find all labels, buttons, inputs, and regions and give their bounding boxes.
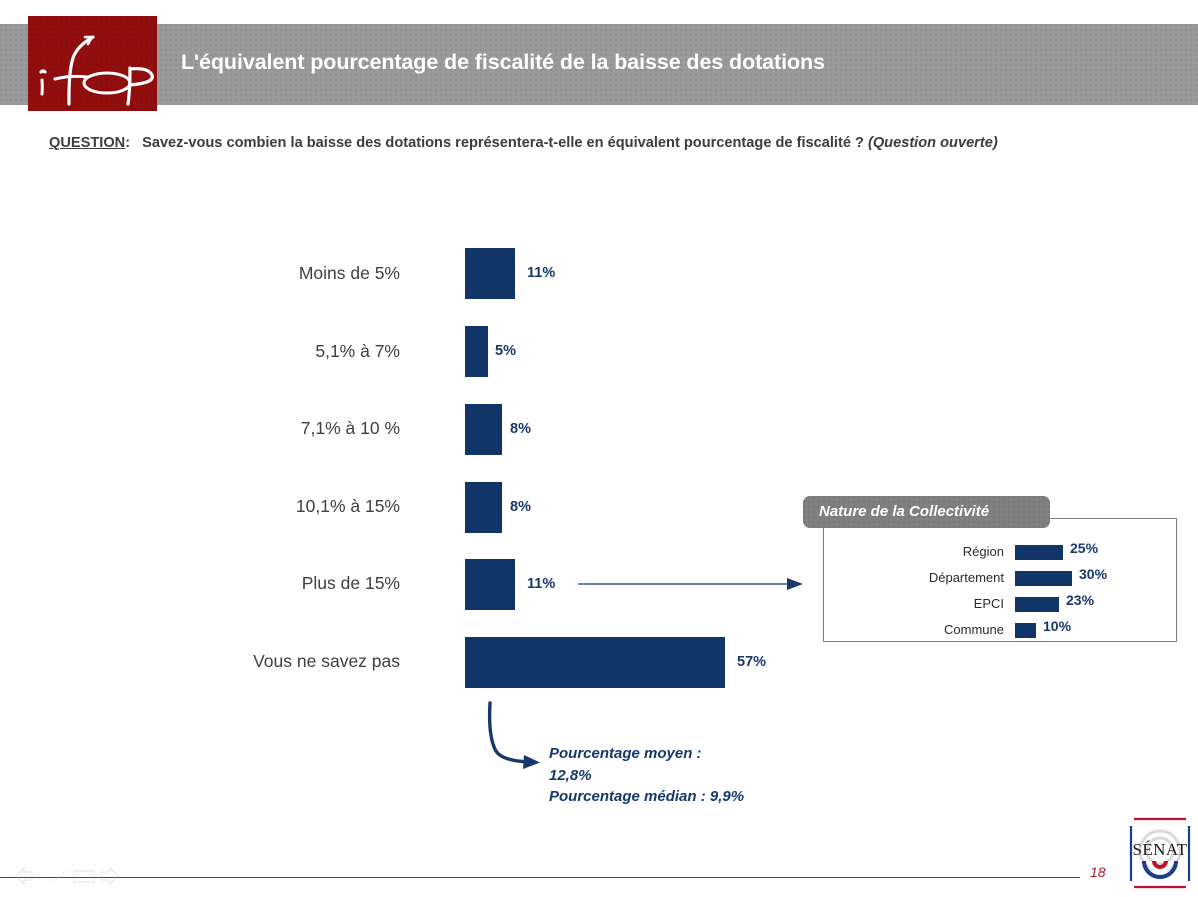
page-number: 18 [1090,864,1106,880]
bar-value-0: 11% [527,265,555,281]
bar-5 [465,637,725,688]
callout-category-label: Département [884,570,1004,585]
bar-value-3: 8% [510,499,531,515]
bar-2 [465,404,502,455]
svg-text:SÉNAT: SÉNAT [1133,840,1188,859]
nav-prev-icon [16,868,32,884]
callout-bar-1 [1015,571,1072,586]
bar-category-label: Plus de 15% [140,573,400,594]
footer-rule [0,877,1080,878]
nav-divider-icon [54,870,66,882]
callout-bar-2 [1015,597,1059,612]
bar-value-2: 8% [510,421,531,437]
bar-category-label: 5,1% à 7% [140,341,400,362]
bar-4 [465,559,515,610]
callout-bar-value-3: 10% [1043,618,1071,634]
callout-title: Nature de la Collectivité [819,503,989,520]
callout-bar-value-1: 30% [1079,566,1107,582]
annotation-text: Pourcentage moyen : 12,8% Pourcentage mé… [549,743,744,808]
callout-connector-arrow [575,570,810,600]
callout-category-label: Région [884,544,1004,559]
callout-box: Région 25% Département 30% EPCI 23% Comm… [823,518,1177,642]
bar-value-1: 5% [495,343,516,359]
callout-bar-0 [1015,545,1063,560]
nav-stop-icon [74,871,94,882]
nav-widget[interactable] [10,860,140,892]
slide-root: L'équivalent pourcentage de fiscalité de… [0,0,1198,897]
bar-category-label: Vous ne savez pas [140,651,400,672]
callout-bar-3 [1015,623,1036,638]
callout-bar-value-2: 23% [1066,592,1094,608]
annotation-line-3: Pourcentage médian : 9,9% [549,786,744,808]
bar-category-label: 7,1% à 10 % [140,418,400,439]
bar-value-4: 11% [527,576,555,592]
bar-category-label: Moins de 5% [140,263,400,284]
callout-bar-value-0: 25% [1070,540,1098,556]
bar-category-label: 10,1% à 15% [140,496,400,517]
bar-1 [465,326,488,377]
callout-category-label: EPCI [884,596,1004,611]
bar-3 [465,482,502,533]
bar-value-5: 57% [737,654,766,670]
nav-next-icon [102,868,118,884]
annotation-curved-arrow [478,698,558,778]
annotation-line-1: Pourcentage moyen : [549,743,744,765]
senat-logo: SÉNAT [1128,817,1192,890]
bar-0 [465,248,515,299]
senat-logo-icon: SÉNAT [1128,817,1192,890]
callout-category-label: Commune [884,622,1004,637]
annotation-line-2: 12,8% [549,765,744,787]
